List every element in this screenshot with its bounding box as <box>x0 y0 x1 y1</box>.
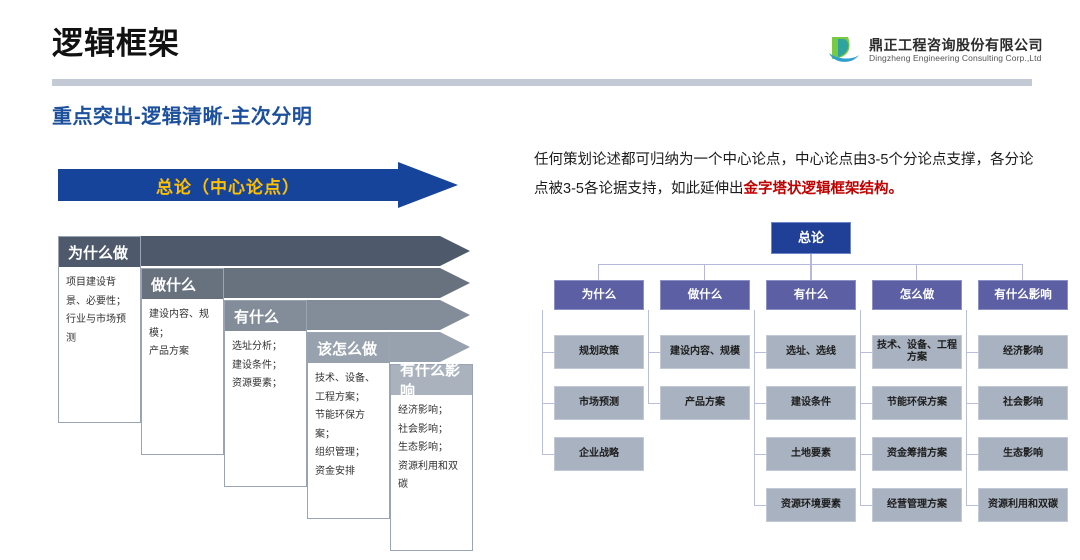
tree-connector-leaf-tick <box>860 505 872 506</box>
tree-connector-leaf-tick <box>966 352 978 353</box>
logo-name-cn: 鼎正工程咨询股份有限公司 <box>869 37 1043 53</box>
tree-leaf-node[interactable]: 生态影响 <box>978 437 1068 471</box>
cascade-card-4-body: 技术、设备、工程方案；节能环保方案；组织管理；资金安排 <box>308 363 389 481</box>
cascade-card-5[interactable]: 有什么影响 经济影响；社会影响；生态影响；资源利用和双碳 <box>390 364 473 551</box>
tree-leaf-node[interactable]: 资源环境要素 <box>766 488 856 522</box>
tree-leaf-node[interactable]: 建设条件 <box>766 386 856 420</box>
tree-leaf-node[interactable]: 规划政策 <box>554 335 644 369</box>
tree-leaf-node[interactable]: 节能环保方案 <box>872 386 962 420</box>
tree-connector-leaf-tick <box>754 403 766 404</box>
company-logo: 鼎正工程咨询股份有限公司 Dingzheng Engineering Consu… <box>826 33 1043 67</box>
tree-branch-node[interactable]: 怎么做 <box>872 280 962 310</box>
tree-root-node[interactable]: 总论 <box>771 222 851 254</box>
tree-leaf-node[interactable]: 社会影响 <box>978 386 1068 420</box>
tree-connector-spine <box>542 310 543 454</box>
tree-connector-leaf-tick <box>754 454 766 455</box>
tree-connector-bus <box>599 264 1023 265</box>
pyramid-tree-diagram: 总论为什么规划政策市场预测企业战略做什么建设内容、规模产品方案有什么选址、选线建… <box>534 222 1068 557</box>
cascade-card-1[interactable]: 为什么做 项目建设背景、必要性；行业与市场预测 <box>58 236 141 423</box>
tree-connector-leaf-tick <box>966 505 978 506</box>
cascade-card-2-title: 做什么 <box>142 269 223 299</box>
cascade-card-1-title: 为什么做 <box>59 237 140 267</box>
tree-connector-leaf-tick <box>542 454 554 455</box>
tree-leaf-node[interactable]: 资金筹措方案 <box>872 437 962 471</box>
cascade-card-3-body: 选址分析；建设条件；资源要素； <box>225 331 306 394</box>
tree-connector-branch-drop <box>1022 264 1023 280</box>
tree-connector-leaf-tick <box>542 352 554 353</box>
tree-leaf-node[interactable]: 建设内容、规模 <box>660 335 750 369</box>
logo-text-block: 鼎正工程咨询股份有限公司 Dingzheng Engineering Consu… <box>869 37 1043 63</box>
tree-connector-leaf-tick <box>966 454 978 455</box>
cascade-card-4[interactable]: 该怎么做 技术、设备、工程方案；节能环保方案；组织管理；资金安排 <box>307 332 390 519</box>
tree-connector-leaf-tick <box>860 403 872 404</box>
tree-leaf-node[interactable]: 市场预测 <box>554 386 644 420</box>
tree-connector-leaf-tick <box>754 352 766 353</box>
tree-connector-leaf-tick <box>754 505 766 506</box>
cascade-card-5-body: 经济影响；社会影响；生态影响；资源利用和双碳 <box>391 395 472 495</box>
tree-leaf-node[interactable]: 资源利用和双碳 <box>978 488 1068 522</box>
description-highlight: 金字塔状逻辑框架结构。 <box>743 181 903 197</box>
tree-branch-node[interactable]: 为什么 <box>554 280 644 310</box>
tree-connector-branch-drop <box>810 264 811 280</box>
tree-leaf-node[interactable]: 企业战略 <box>554 437 644 471</box>
slide-canvas: 逻辑框架 重点突出-逻辑清晰-主次分明 鼎正工程咨询股份有限公司 Dingzhe… <box>0 0 1080 560</box>
tree-leaf-node[interactable]: 技术、设备、工程方案 <box>872 335 962 369</box>
tree-connector-leaf-tick <box>966 403 978 404</box>
tree-connector-spine <box>966 310 967 505</box>
tree-leaf-node[interactable]: 选址、选线 <box>766 335 856 369</box>
tree-connector-leaf-tick <box>542 403 554 404</box>
tree-connector-leaf-tick <box>648 352 660 353</box>
tree-leaf-node[interactable]: 经济影响 <box>978 335 1068 369</box>
tree-connector-leaf-tick <box>648 403 660 404</box>
tree-connector-leaf-tick <box>860 454 872 455</box>
tree-branch-node[interactable]: 有什么影响 <box>978 280 1068 310</box>
tree-connector-branch-drop <box>598 264 599 280</box>
logo-name-en: Dingzheng Engineering Consulting Corp.,L… <box>869 53 1043 63</box>
description-paragraph: 任何策划论述都可归纳为一个中心论点，中心论点由3-5个分论点支撑，各分论点被3-… <box>534 146 1046 204</box>
dingzheng-logo-icon <box>826 33 862 67</box>
tree-connector-branch-drop <box>704 264 705 280</box>
tree-branch-node[interactable]: 有什么 <box>766 280 856 310</box>
cascade-card-3-title: 有什么 <box>225 301 306 331</box>
cascade-card-1-body: 项目建设背景、必要性；行业与市场预测 <box>59 267 140 348</box>
cascade-card-3[interactable]: 有什么 选址分析；建设条件；资源要素； <box>224 300 307 487</box>
cascade-diagram: 为什么做 项目建设背景、必要性；行业与市场预测 做什么 建设内容、规模；产品方案… <box>0 0 520 560</box>
tree-connector-spine <box>648 310 649 403</box>
cascade-card-2-body: 建设内容、规模；产品方案 <box>142 299 223 362</box>
tree-leaf-node[interactable]: 土地要素 <box>766 437 856 471</box>
tree-branch-node[interactable]: 做什么 <box>660 280 750 310</box>
tree-connector-leaf-tick <box>860 352 872 353</box>
cascade-card-4-title: 该怎么做 <box>308 333 389 363</box>
tree-connector-spine <box>754 310 755 505</box>
cascade-card-5-title: 有什么影响 <box>391 365 472 395</box>
tree-connector-spine <box>860 310 861 505</box>
cascade-card-2[interactable]: 做什么 建设内容、规模；产品方案 <box>141 268 224 455</box>
tree-leaf-node[interactable]: 产品方案 <box>660 386 750 420</box>
tree-connector-branch-drop <box>916 264 917 280</box>
tree-leaf-node[interactable]: 经营管理方案 <box>872 488 962 522</box>
